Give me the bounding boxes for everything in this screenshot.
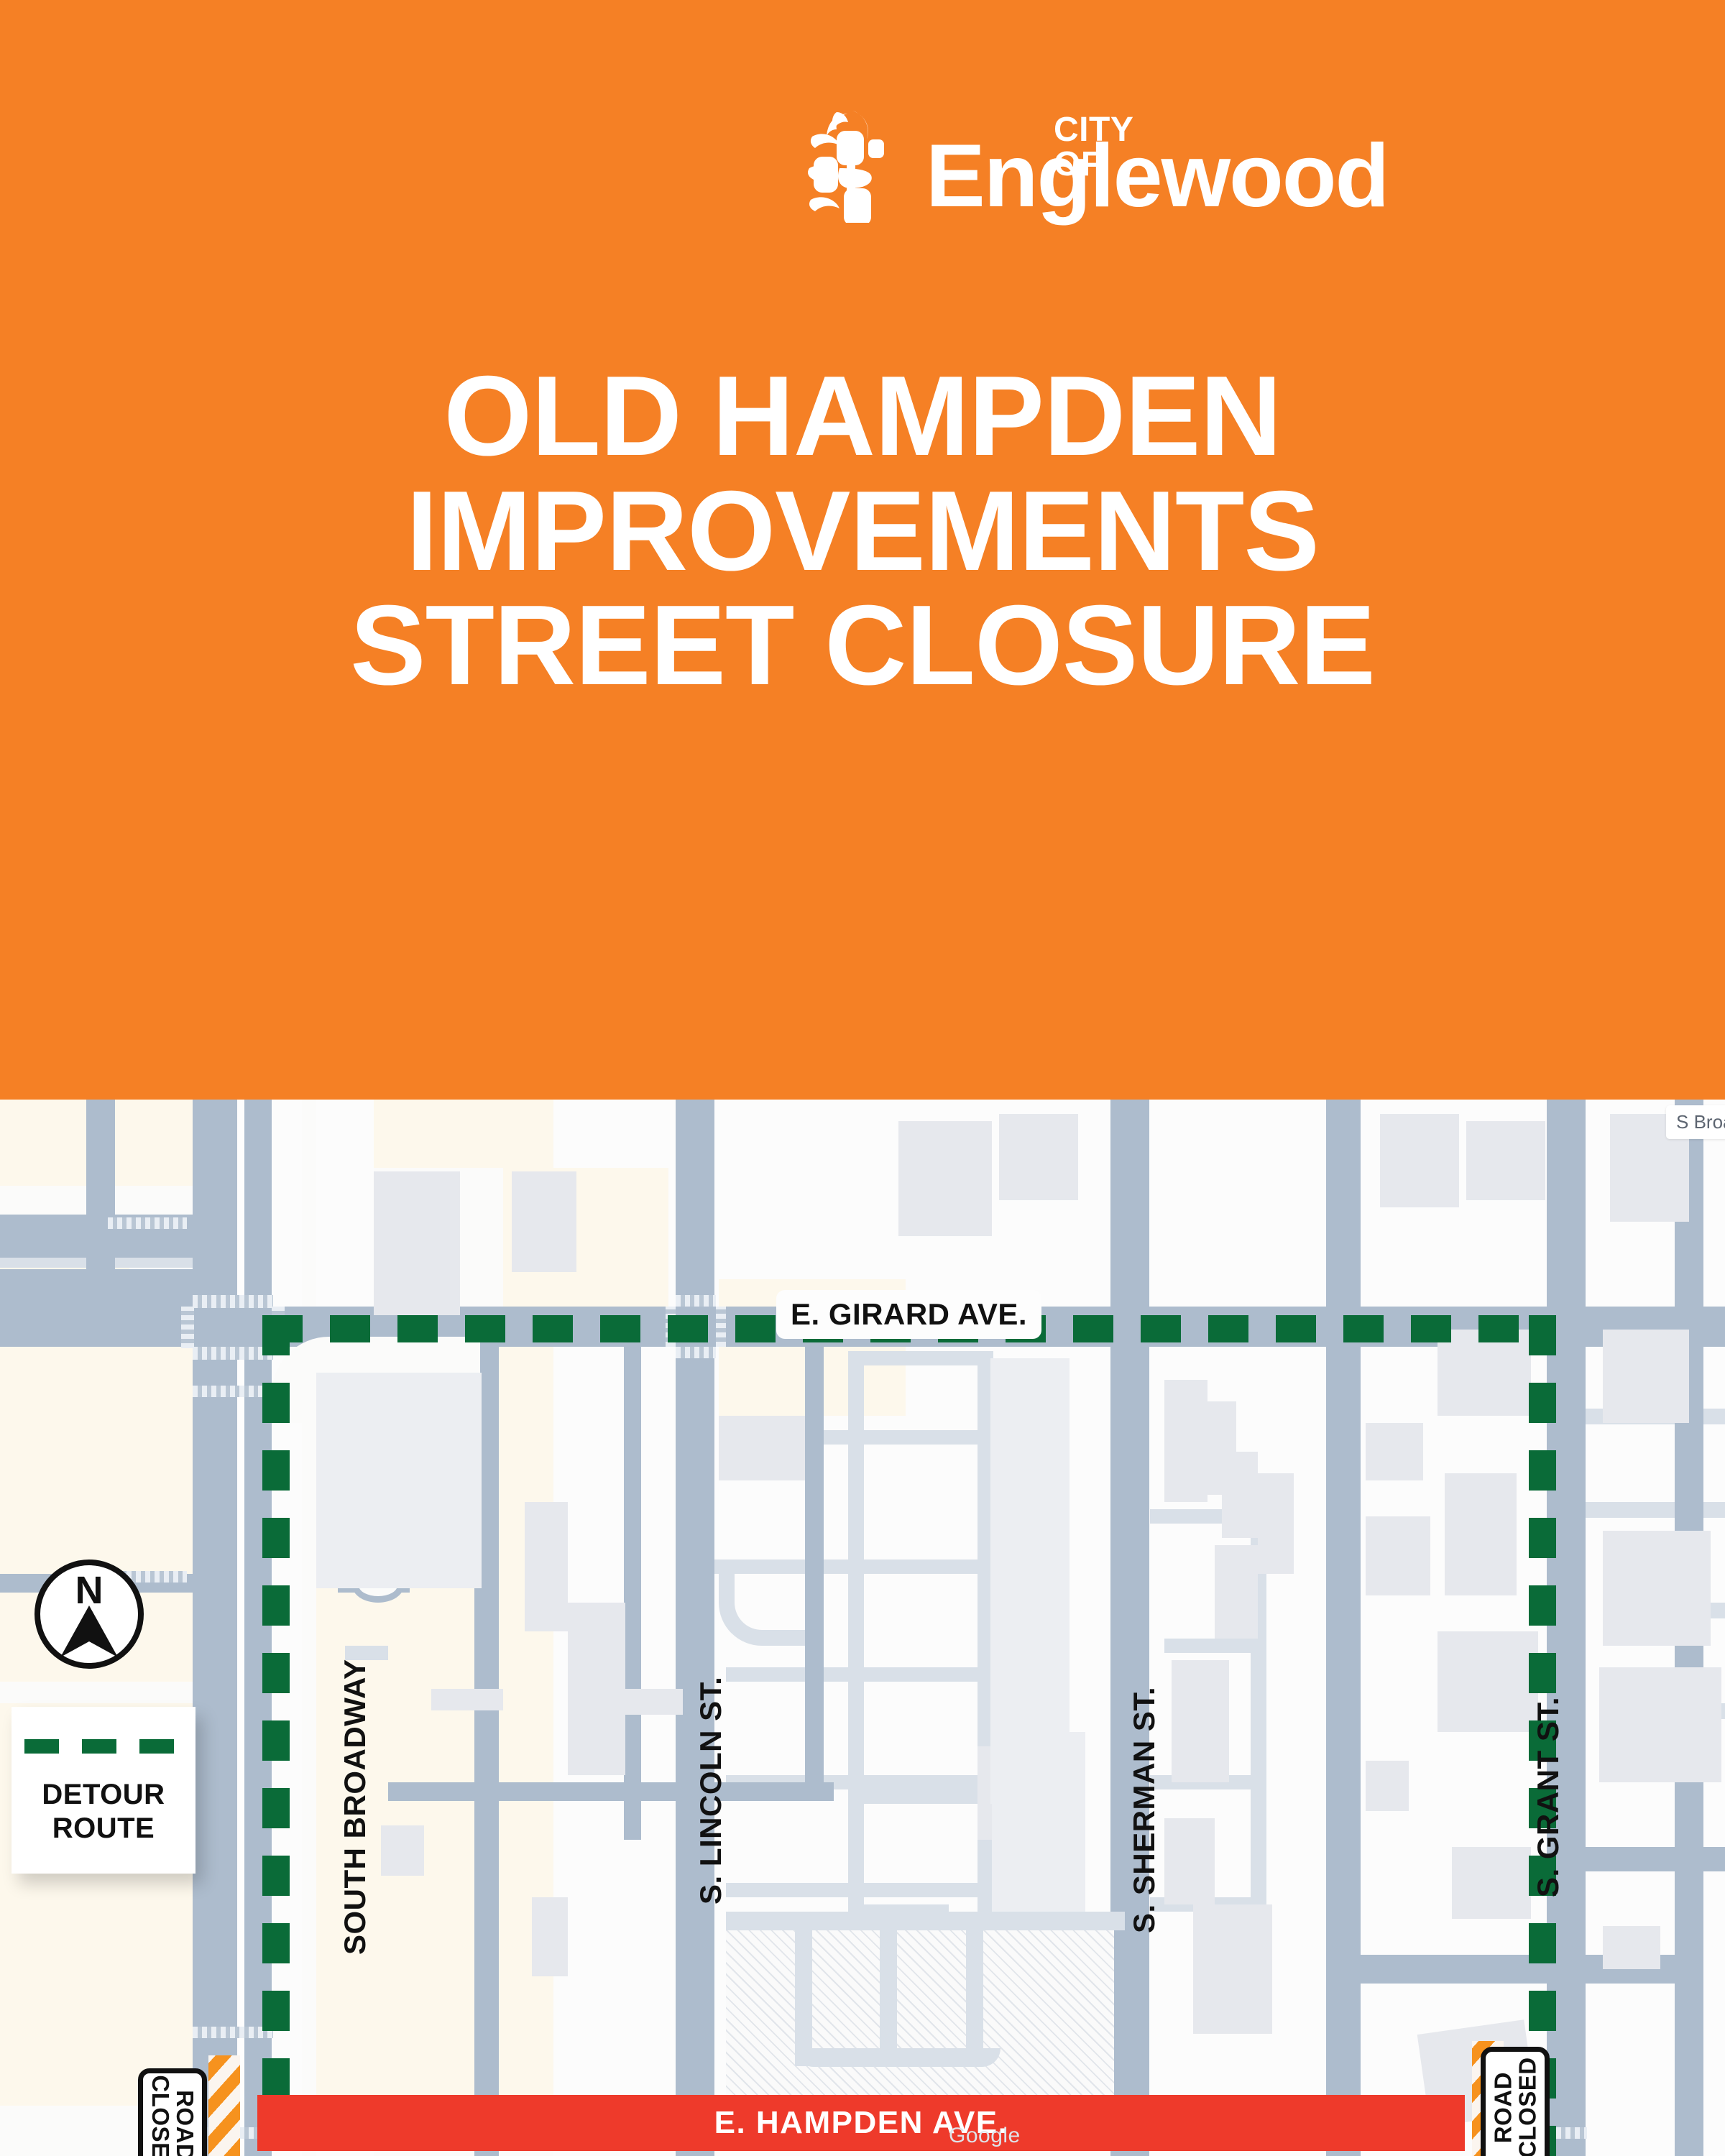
- lot-divider: [795, 1930, 812, 2066]
- crosswalk: [676, 1347, 716, 1358]
- closed-street-band: E. HAMPDEN AVE.: [257, 2095, 1465, 2151]
- building: [1603, 1531, 1711, 1646]
- header-banner: CITY OF Englewood OLD HAMPDEN IMPROVEMEN…: [0, 0, 1725, 1100]
- road-alley: [624, 1337, 641, 1840]
- crosswalk: [181, 1307, 194, 1348]
- minor-road: [345, 1646, 388, 1660]
- building: [1437, 1330, 1531, 1416]
- building: [898, 1121, 992, 1236]
- building: [1603, 1330, 1689, 1423]
- crosswalk: [193, 1295, 273, 1308]
- building: [1380, 1114, 1459, 1207]
- barricade-west: [208, 2055, 240, 2156]
- page-title: OLD HAMPDEN IMPROVEMENTS STREET CLOSURE: [0, 359, 1725, 704]
- building: [589, 1689, 683, 1715]
- building: [1215, 1545, 1258, 1639]
- minor-road: [1164, 1639, 1265, 1653]
- building: [525, 1502, 568, 1631]
- road-unnamed-st: [1326, 1100, 1361, 2156]
- road-closed-line-1: ROAD: [172, 2090, 197, 2156]
- crosswalk: [193, 1386, 273, 1397]
- lot-edge: [726, 1912, 1125, 1930]
- building: [1164, 1818, 1215, 1904]
- road-closed-sign-east: ROAD CLOSED: [1481, 2047, 1550, 2156]
- building: [1193, 1904, 1272, 2034]
- lot-divider: [880, 1930, 897, 2066]
- building: [1466, 1121, 1545, 1200]
- building: [1366, 1516, 1430, 1595]
- building: [316, 1373, 482, 1588]
- logo-city-name: Englewood: [926, 132, 1388, 221]
- road-south-broadway: [193, 1100, 272, 2156]
- detour-legend: DETOUR ROUTE: [11, 1707, 195, 1874]
- street-closure-flyer: CITY OF Englewood OLD HAMPDEN IMPROVEMEN…: [0, 0, 1725, 2156]
- lot-divider: [966, 1930, 983, 2066]
- detour-legend-line-2: ROUTE: [42, 1812, 165, 1846]
- building: [1437, 1631, 1538, 1732]
- building: [1366, 1423, 1423, 1480]
- crosswalk: [193, 2027, 273, 2038]
- street-label-s-lincoln-st: S. LINCOLN ST.: [694, 1677, 728, 1904]
- building: [1445, 1473, 1517, 1595]
- detour-route-west: [262, 1315, 290, 2149]
- city-logo: CITY OF Englewood: [0, 108, 1725, 223]
- building: [1603, 1926, 1660, 1969]
- street-label-south-broadway: SOUTH BROADWAY: [338, 1659, 372, 1955]
- title-line-1: OLD HAMPDEN: [0, 359, 1725, 474]
- building: [381, 1825, 424, 1876]
- building: [374, 1171, 460, 1315]
- road-closed-line-2: CLOSED: [1515, 2058, 1540, 2156]
- road-closed-line-2: CLOSED: [148, 2076, 172, 2156]
- building: [1258, 1473, 1294, 1574]
- north-arrow-icon: [59, 1606, 119, 1659]
- minor-road: [1581, 1502, 1725, 1518]
- crosswalk: [676, 1295, 716, 1307]
- englewood-tree-logo-icon: [799, 108, 907, 223]
- road-alley-v: [805, 1337, 824, 1797]
- map-place-label: S Broa: [1666, 1105, 1725, 1139]
- building: [1366, 1761, 1409, 1811]
- detour-legend-line-1: DETOUR: [42, 1778, 165, 1812]
- street-label-s-grant-st: S. GRANT ST.: [1531, 1697, 1565, 1897]
- road-s-lincoln-st: [676, 1100, 714, 2156]
- road-closed-sign-west: ROAD CLOSED: [138, 2068, 207, 2156]
- road-s-sherman-st: [1110, 1100, 1149, 2156]
- detour-legend-label: DETOUR ROUTE: [42, 1778, 165, 1846]
- road-centerline: [237, 1100, 244, 2156]
- crosswalk: [108, 1217, 187, 1229]
- map-block: [374, 1100, 553, 1168]
- building: [719, 1416, 805, 1480]
- building: [532, 1897, 568, 1976]
- building: [431, 1689, 503, 1710]
- street-label-s-sherman-st: S. SHERMAN ST.: [1127, 1687, 1161, 1933]
- building: [999, 1114, 1078, 1200]
- building: [512, 1171, 576, 1272]
- road-alley-h: [388, 1782, 834, 1801]
- minor-road: [855, 1351, 985, 1365]
- building-strip: [990, 1358, 1069, 1804]
- north-arrow: N: [34, 1560, 144, 1669]
- detour-legend-swatch: [24, 1739, 183, 1754]
- title-line-2: IMPROVEMENTS: [0, 474, 1725, 589]
- building: [1172, 1660, 1229, 1782]
- google-attribution: Google: [949, 2124, 1021, 2148]
- road-closed-line-1: ROAD: [1491, 2072, 1515, 2143]
- street-label-e-girard-ave: E. GIRARD AVE.: [776, 1290, 1041, 1339]
- parking-lot: [726, 1930, 1114, 2109]
- road-east-ave-2: [1586, 1847, 1725, 1871]
- crosswalk: [193, 1347, 273, 1360]
- building: [1599, 1667, 1721, 1782]
- road-curve: [719, 1560, 805, 1646]
- building: [1222, 1452, 1258, 1538]
- closure-map[interactable]: E. HAMPDEN AVE. ROAD CLOSED ROAD CLOSED …: [0, 1100, 1725, 2156]
- lot-divider: [795, 2048, 1000, 2067]
- title-line-3: STREET CLOSURE: [0, 589, 1725, 704]
- building: [1452, 1847, 1531, 1919]
